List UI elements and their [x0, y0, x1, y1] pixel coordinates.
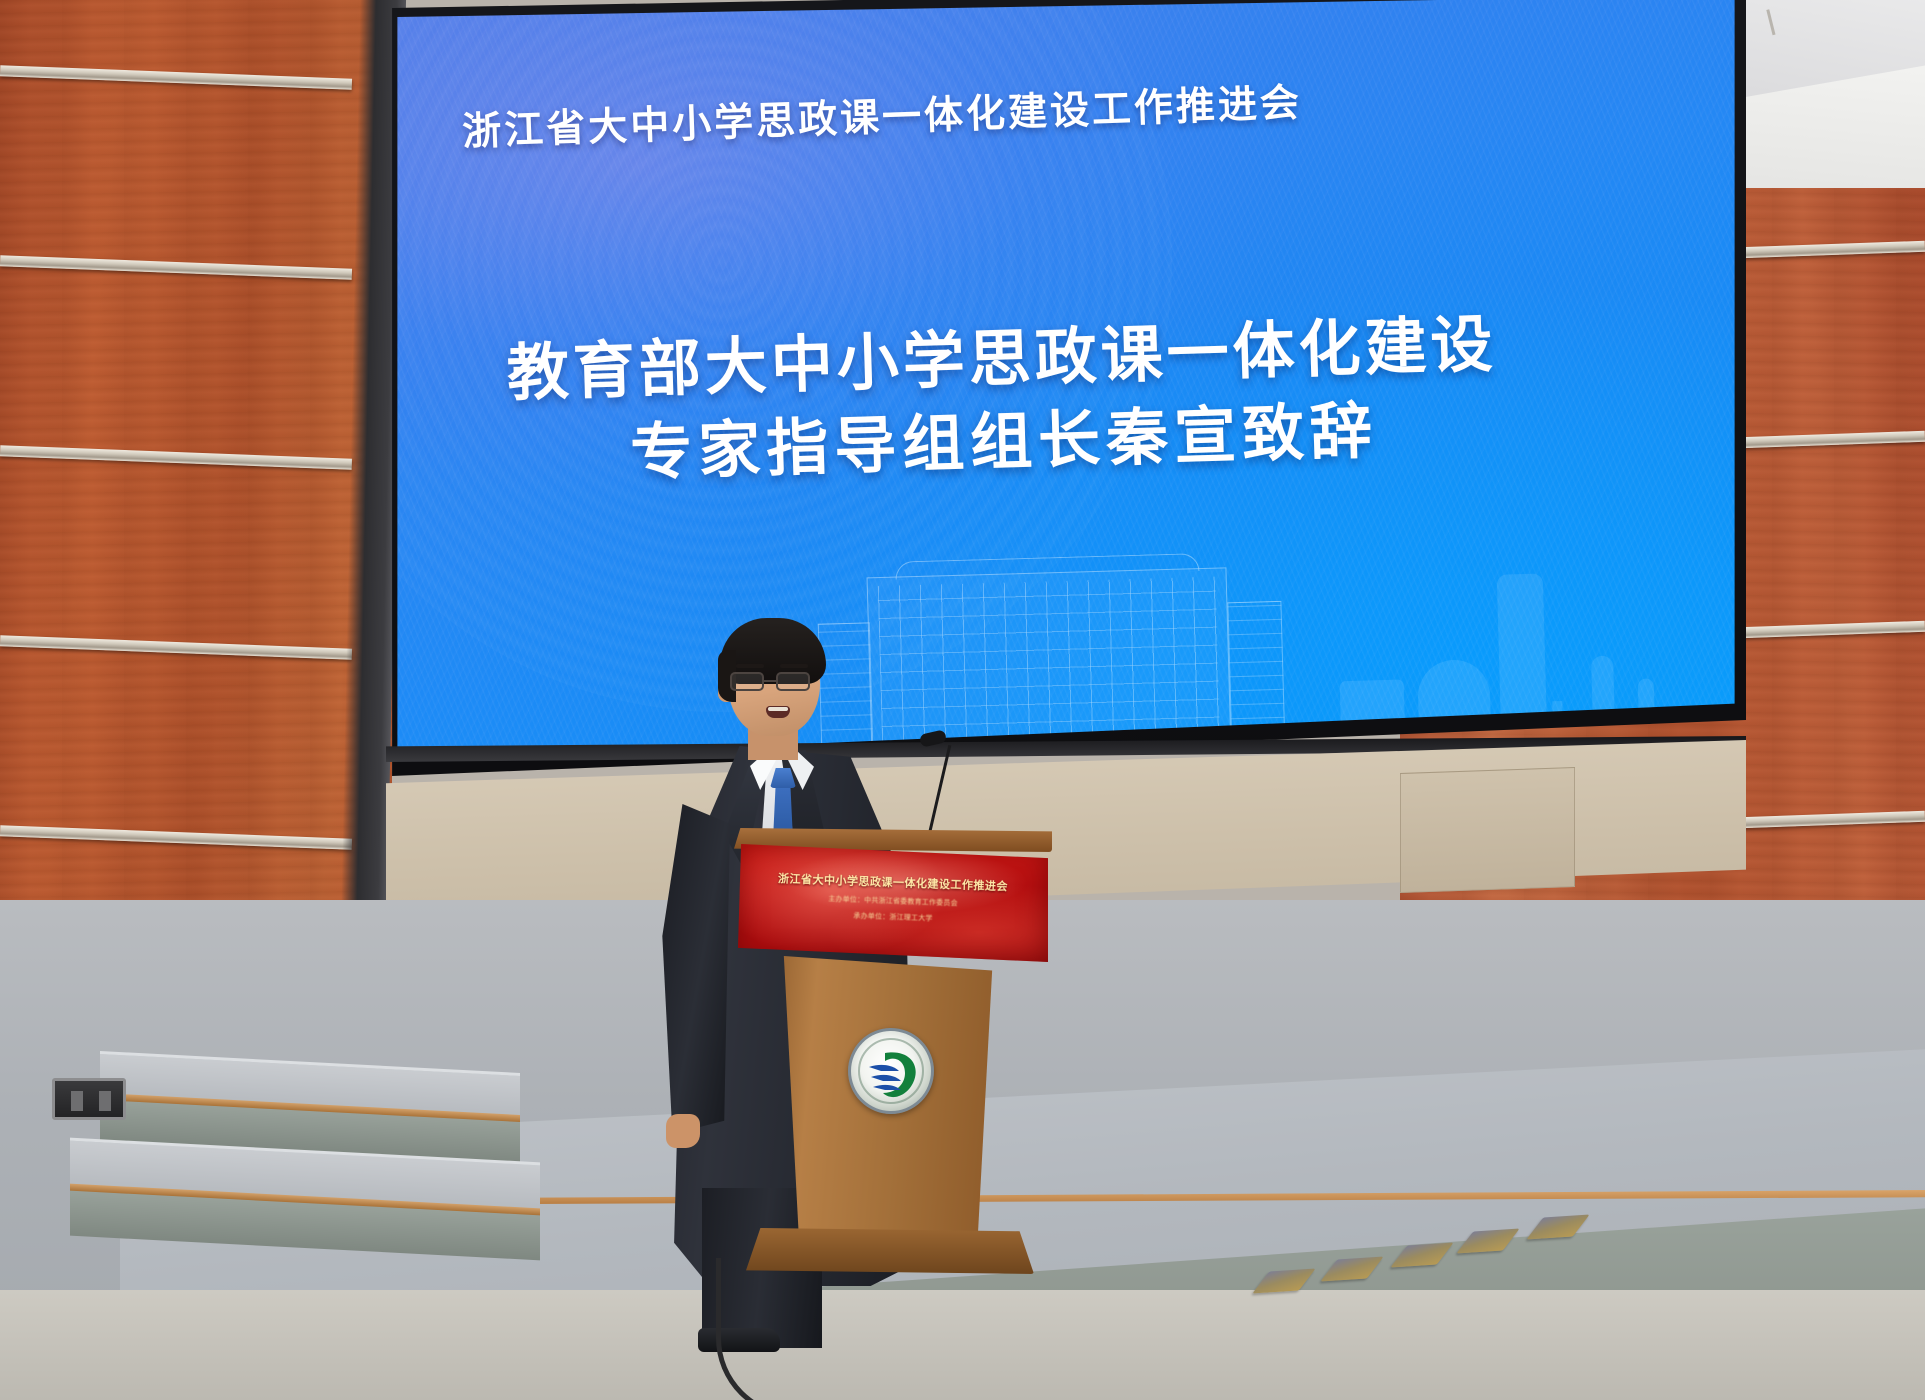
crest-mark — [851, 1031, 934, 1114]
power-outlet-icon[interactable] — [52, 1078, 126, 1120]
building-roof — [895, 553, 1199, 579]
podium: 浙江省大中小学思政课一体化建设工作推进会 主办单位：中共浙江省委教育工作委员会 … — [742, 828, 1042, 1348]
screen-main-text: 教育部大中小学思政课一体化建设 专家指导组组长秦宣致辞 — [486, 303, 1520, 500]
outlet-slot — [99, 1091, 111, 1111]
screenshot-root: 浙江省大中小学思政课一体化建设工作推进会 教育部大中小学思政课一体化建设 专家指… — [0, 0, 1925, 1400]
outlet-slot — [71, 1091, 83, 1111]
podium-banner: 浙江省大中小学思政课一体化建设工作推进会 主办单位：中共浙江省委教育工作委员会 … — [738, 844, 1048, 962]
mouth — [766, 706, 790, 718]
eyebrow-left — [736, 664, 764, 668]
left-arm — [658, 804, 730, 1134]
teeth — [768, 707, 788, 711]
wall-panel-seam — [1400, 767, 1575, 893]
lens-left — [730, 672, 764, 691]
eyeglasses-icon — [730, 672, 818, 692]
glasses-bridge — [764, 680, 776, 682]
eyebrow-right — [780, 664, 808, 668]
hand — [666, 1114, 700, 1148]
building-window-grid — [878, 577, 1220, 745]
microphone-cable — [716, 1258, 806, 1400]
led-screen[interactable]: 浙江省大中小学思政课一体化建设工作推进会 教育部大中小学思政课一体化建设 专家指… — [392, 0, 1740, 774]
lens-right — [776, 672, 810, 691]
university-crest-icon — [848, 1028, 934, 1114]
